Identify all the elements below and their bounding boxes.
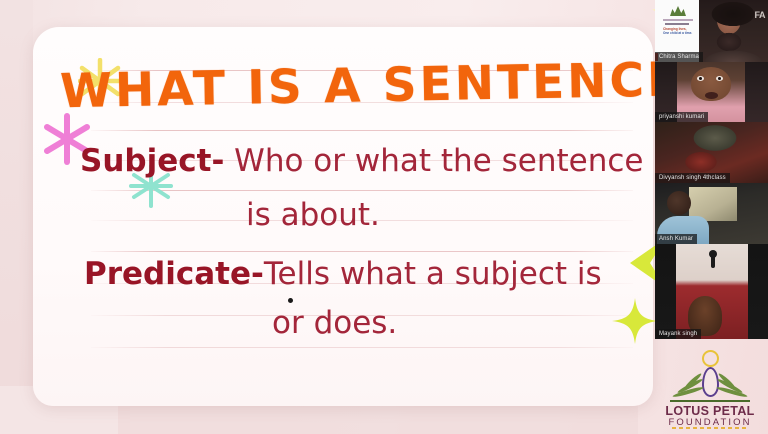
slide-line-1-text: Who or what the sentence xyxy=(234,143,643,179)
video-tile[interactable]: Ansh Kumar xyxy=(655,183,768,244)
slide-line-4-text: or does. xyxy=(272,305,397,341)
logo-underline-decoration xyxy=(672,427,748,429)
video-tile[interactable]: Changing lives, One child at a time. FA … xyxy=(655,0,768,62)
participant-name: Chitra Sharma xyxy=(655,52,703,62)
video-tile[interactable]: Divyansh singh 4thclass xyxy=(655,122,768,183)
logo-text-line1: LOTUS PETAL xyxy=(658,404,762,418)
slide-line-3: Predicate-Tells what a subject is xyxy=(84,259,602,290)
mouse-cursor-dot xyxy=(288,298,293,303)
slide-line-2-text: is about. xyxy=(246,197,380,233)
slide-left-band xyxy=(0,0,33,434)
slide-line-3-label: Predicate xyxy=(84,256,251,292)
slide-line-4: or does. xyxy=(272,308,397,339)
participant-name: Divyansh singh 4thclass xyxy=(655,173,730,183)
lotus-bud-icon xyxy=(702,367,719,397)
slide-line-3-text: Tells what a subject is xyxy=(264,256,602,292)
participant-name: Mayank singh xyxy=(655,329,701,339)
slide-title: WHAT IS A SENTENCE? xyxy=(60,56,713,116)
participant-name: priyanshi kumari xyxy=(655,112,708,122)
overlay-logo: Changing lives, One child at a time. xyxy=(661,6,695,32)
video-tile[interactable]: priyanshi kumari xyxy=(655,62,768,122)
lotus-petal-foundation-logo: LOTUS PETAL FOUNDATION xyxy=(658,348,762,430)
slide-line-1-dash: - xyxy=(211,143,224,179)
slide-line-1: Subject- Who or what the sentence xyxy=(80,146,643,177)
screen-root: WHAT IS A SENTENCE? Subject- Who or what… xyxy=(0,0,768,434)
video-watermark: FA xyxy=(754,10,765,20)
video-tile[interactable]: Mayank singh xyxy=(655,244,768,339)
video-participant-rail[interactable]: Changing lives, One child at a time. FA … xyxy=(655,0,768,339)
participant-name: Ansh Kumar xyxy=(655,234,697,244)
slide-line-3-dash: - xyxy=(251,256,264,292)
participant-shoulder xyxy=(699,46,768,62)
slide-line-2: is about. xyxy=(246,200,380,231)
crown-icon xyxy=(670,6,686,16)
overlay-logo-line2: One child at a time. xyxy=(663,31,692,35)
slide-line-1-label: Subject xyxy=(80,143,211,179)
sun-ring-icon xyxy=(702,350,719,367)
